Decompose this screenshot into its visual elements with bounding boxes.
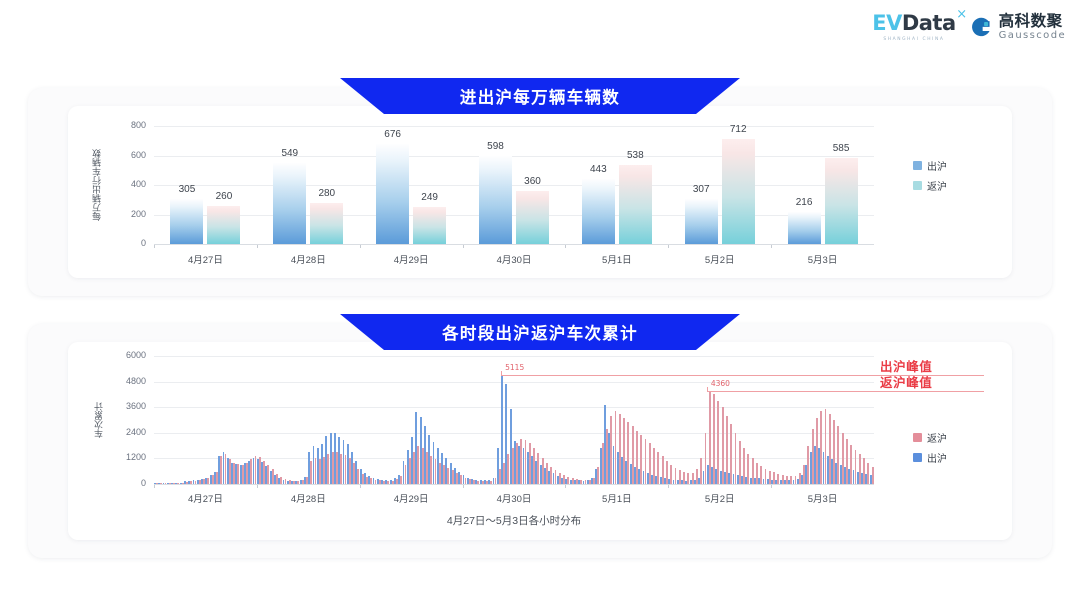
chart2-back-peak-line (707, 391, 984, 392)
evdata-tagline: SHANGHAI CHINA (883, 38, 944, 42)
chart1-y-tick: 200 (112, 209, 146, 219)
chart2-x-tick-label: 4月30日 (469, 491, 559, 505)
chart1-legend-swatch (913, 161, 922, 170)
chart2-y-tick: 3600 (112, 401, 146, 411)
chart1-legend-item[interactable]: 返沪 (913, 178, 947, 193)
chart1-bar-value: 676 (364, 129, 421, 140)
chart1-bar-value: 249 (401, 192, 458, 203)
chart1-bar-value: 260 (195, 191, 252, 202)
chart2-legend-label: 返沪 (927, 430, 947, 445)
evdata-superscript-icon: × (956, 8, 966, 21)
chart2-legend-swatch (913, 453, 922, 462)
chart2-x-axis-line (154, 484, 874, 485)
logo-row: EVData× SHANGHAI CHINA 高科数聚 Gausscode (872, 13, 1066, 42)
chart1-bar-out (273, 163, 306, 244)
chart2-out-peak-stub (501, 371, 502, 376)
chart1-x-tick-mark (668, 245, 669, 248)
chart1-card: 每万辆出行车辆数02004006008004月27日3052604月28日549… (68, 106, 1012, 278)
chart2-y-tick: 2400 (112, 427, 146, 437)
chart1-x-tick-label: 4月28日 (263, 252, 353, 266)
chart1-x-tick-mark (771, 245, 772, 248)
chart1-bar-back (310, 203, 343, 244)
chart1-title-ribbon: 进出沪每万辆车辆数 (340, 78, 740, 114)
bar-chart-hourly: 车次累计0120024003600480060004月27日4月28日4月29日… (68, 342, 1012, 540)
chart1-x-tick-mark (463, 245, 464, 248)
gausscode-logo: 高科数聚 Gausscode (970, 14, 1066, 42)
chart1-bar-value: 280 (298, 188, 355, 199)
chart2-card: 车次累计0120024003600480060004月27日4月28日4月29日… (68, 342, 1012, 540)
evdata-data-text: Data (902, 11, 956, 35)
chart2-x-tick-label: 5月1日 (572, 491, 662, 505)
chart2-y-tick: 6000 (112, 350, 146, 360)
chart2-gridline (154, 356, 874, 357)
chart1-y-tick: 600 (112, 150, 146, 160)
chart1-bar-value: 538 (607, 150, 664, 161)
chart2-x-axis-title: 4月27日～5月3日各小时分布 (94, 513, 934, 528)
chart2-gridline (154, 382, 874, 383)
evdata-ev-text: EV (872, 11, 902, 35)
chart1-legend-label: 出沪 (927, 158, 947, 173)
chart2-gridline (154, 407, 874, 408)
chart2-legend-label: 出沪 (927, 450, 947, 465)
chart1-bar-back (722, 139, 755, 244)
chart1-x-tick-mark (257, 245, 258, 248)
chart1-x-tick-mark (565, 245, 566, 248)
chart1-legend-item[interactable]: 出沪 (913, 158, 947, 173)
chart1-x-tick-label: 5月2日 (675, 252, 765, 266)
chart1-bar-back (619, 165, 652, 244)
chart2-y-tick: 1200 (112, 452, 146, 462)
chart2-x-tick-mark (257, 485, 258, 488)
chart2-y-axis-label: 车次累计 (92, 366, 105, 474)
gausscode-text-block: 高科数聚 Gausscode (999, 14, 1066, 42)
chart2-back-peak-label: 返沪峰值 (880, 372, 932, 391)
chart2-back-peak-value: 4360 (711, 379, 730, 388)
chart2-x-tick-label: 5月3日 (778, 491, 868, 505)
chart1-bar-value: 360 (504, 176, 561, 187)
chart2-x-tick-mark (565, 485, 566, 488)
chart2-x-tick-label: 4月27日 (160, 491, 250, 505)
chart1-legend: 出沪返沪 (913, 158, 947, 193)
chart1-bar-out (788, 212, 821, 244)
gausscode-mark-icon (970, 16, 993, 39)
chart1-y-axis-label: 每万辆出行车辆数 (90, 132, 103, 238)
chart1-bar-value: 598 (467, 141, 524, 152)
chart1-bar-back (207, 206, 240, 244)
chart1-x-tick-label: 5月1日 (572, 252, 662, 266)
chart1-bar-value: 585 (813, 143, 870, 154)
bar-chart-daily: 每万辆出行车辆数02004006008004月27日3052604月28日549… (68, 106, 1012, 278)
page-header: EVData× SHANGHAI CHINA 高科数聚 Gausscode (0, 0, 1080, 62)
chart1-x-tick-mark (154, 245, 155, 248)
chart2-legend-item[interactable]: 出沪 (913, 450, 947, 465)
chart1-panel: 每万辆出行车辆数02004006008004月27日3052604月28日549… (28, 88, 1052, 296)
chart2-title-ribbon: 各时段出沪返沪车次累计 (340, 314, 740, 350)
chart2-legend: 返沪出沪 (913, 430, 947, 465)
chart1-bar-out (479, 156, 512, 244)
chart1-gridline (154, 215, 874, 216)
chart1-bar-back (516, 191, 549, 244)
chart1-bar-out (685, 199, 718, 244)
evdata-wordmark: EVData× (872, 13, 955, 34)
chart2-legend-swatch (913, 433, 922, 442)
chart2-x-tick-mark (771, 485, 772, 488)
chart2-back-peak-stub (707, 387, 708, 392)
chart1-bar-value: 712 (710, 124, 767, 135)
evdata-logo: EVData× SHANGHAI CHINA (872, 13, 955, 42)
chart2-x-tick-label: 5月2日 (675, 491, 765, 505)
chart2-x-tick-mark (360, 485, 361, 488)
chart2-x-tick-mark (463, 485, 464, 488)
chart2-out-peak-value: 5115 (505, 363, 524, 372)
chart1-x-tick-label: 4月29日 (366, 252, 456, 266)
chart2-gridline (154, 433, 874, 434)
chart1-bar-back (825, 158, 858, 244)
chart1-bar-out (170, 199, 203, 244)
chart2-y-tick: 0 (112, 478, 146, 488)
chart2-legend-item[interactable]: 返沪 (913, 430, 947, 445)
chart1-y-tick: 0 (112, 238, 146, 248)
chart1-legend-swatch (913, 181, 922, 190)
chart2-x-tick-mark (154, 485, 155, 488)
chart1-bar-value: 549 (261, 148, 318, 159)
chart2-x-tick-mark (668, 485, 669, 488)
chart1-x-tick-label: 4月27日 (160, 252, 250, 266)
chart1-bar-back (413, 207, 446, 244)
chart1-legend-label: 返沪 (927, 178, 947, 193)
chart2-x-tick-label: 4月28日 (263, 491, 353, 505)
gausscode-cn-name: 高科数聚 (999, 14, 1066, 30)
gausscode-en-name: Gausscode (999, 31, 1066, 41)
chart1-x-tick-mark (360, 245, 361, 248)
chart2-y-tick: 4800 (112, 376, 146, 386)
chart2-panel: 车次累计0120024003600480060004月27日4月28日4月29日… (28, 324, 1052, 558)
chart2-hour-bar-back (872, 467, 874, 484)
chart1-x-tick-label: 4月30日 (469, 252, 559, 266)
chart1-x-tick-label: 5月3日 (778, 252, 868, 266)
chart2-x-tick-label: 4月29日 (366, 491, 456, 505)
chart1-y-tick: 800 (112, 120, 146, 130)
chart1-x-axis-line (154, 244, 874, 245)
chart1-y-tick: 400 (112, 179, 146, 189)
chart1-bar-out (582, 179, 615, 244)
